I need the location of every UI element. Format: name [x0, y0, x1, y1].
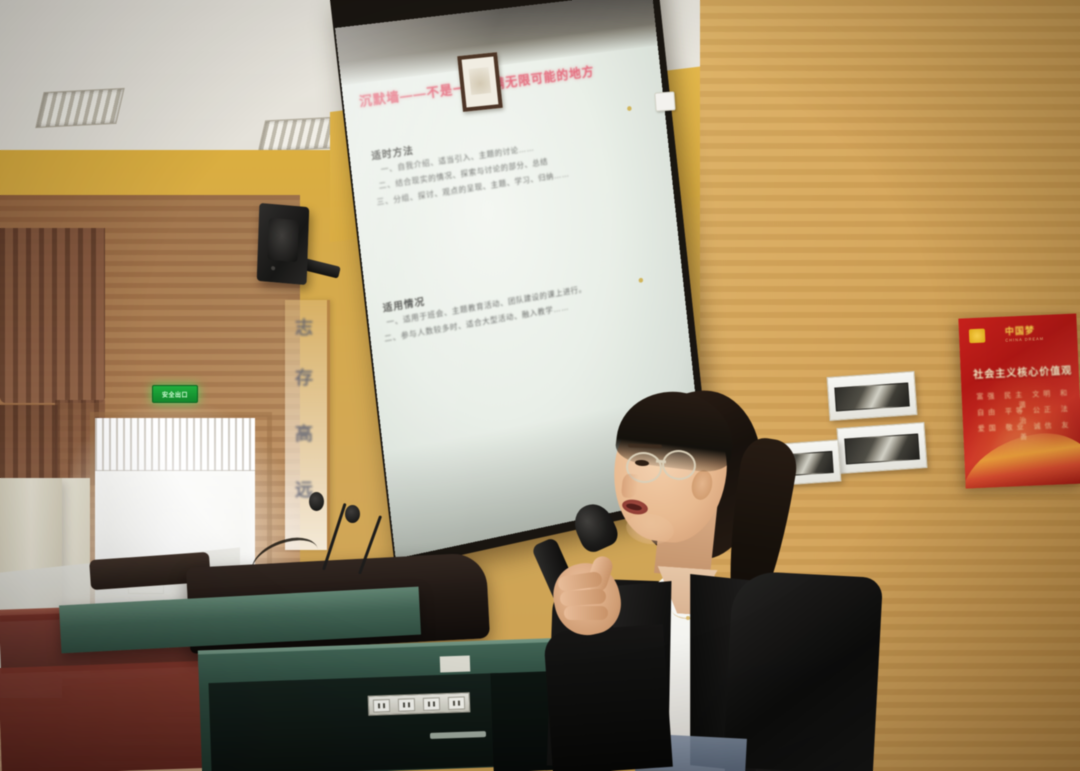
front-bench-row-2	[0, 660, 232, 771]
presenter-finger	[560, 588, 607, 606]
slide-bullet-icon	[638, 278, 643, 283]
presenter-speaker	[540, 378, 870, 771]
scroll-character: 志	[291, 314, 317, 340]
light-switch-plate[interactable]	[654, 91, 675, 111]
microphone-capsule-icon	[309, 492, 324, 511]
ceiling-vent-icon	[35, 88, 125, 128]
poster-logo-subtitle: CHINA DREAM	[1005, 336, 1044, 343]
wall-mounted-loudspeaker	[257, 203, 310, 285]
framed-picture-image	[469, 67, 492, 95]
scroll-character: 存	[291, 364, 317, 390]
scroll-character: 高	[291, 420, 317, 446]
presenter-arm	[543, 624, 673, 771]
desk-label-tag	[440, 655, 471, 672]
presenter-blazer-sleeve	[723, 570, 883, 771]
framed-picture	[457, 52, 503, 112]
handheld-microphone-head	[568, 498, 621, 555]
speaker-led-icon	[271, 266, 275, 270]
photo-scene: 沉默墙——不是一个充满无限可能的地方 适时方法 一、自我介绍、适当引入、主题的讨…	[0, 0, 1080, 771]
slide-bullet-icon	[627, 106, 632, 111]
presenter-finger	[564, 606, 608, 620]
microphone-capsule-icon	[345, 505, 360, 523]
desk-front-panel	[208, 673, 501, 771]
exit-sign: 安全出口	[152, 385, 198, 403]
speaker-grille-icon	[267, 218, 298, 263]
curtain	[0, 228, 105, 403]
power-outlet-icon[interactable]	[398, 698, 415, 712]
poster-logo: 中国梦	[1005, 323, 1036, 337]
party-emblem-icon	[969, 329, 986, 344]
socialist-core-values-poster: 中国梦 CHINA DREAM 社会主义核心价值观 富强 民主 文明 和谐 自由…	[958, 314, 1080, 489]
power-outlet-icon[interactable]	[448, 696, 465, 710]
desk-power-outlet-strip[interactable]	[368, 692, 471, 716]
power-outlet-icon[interactable]	[423, 697, 440, 711]
power-outlet-icon[interactable]	[373, 699, 390, 713]
calligraphy-scroll: 志 存 高 远	[285, 300, 330, 550]
exit-sign-label: 安全出口	[162, 390, 188, 399]
